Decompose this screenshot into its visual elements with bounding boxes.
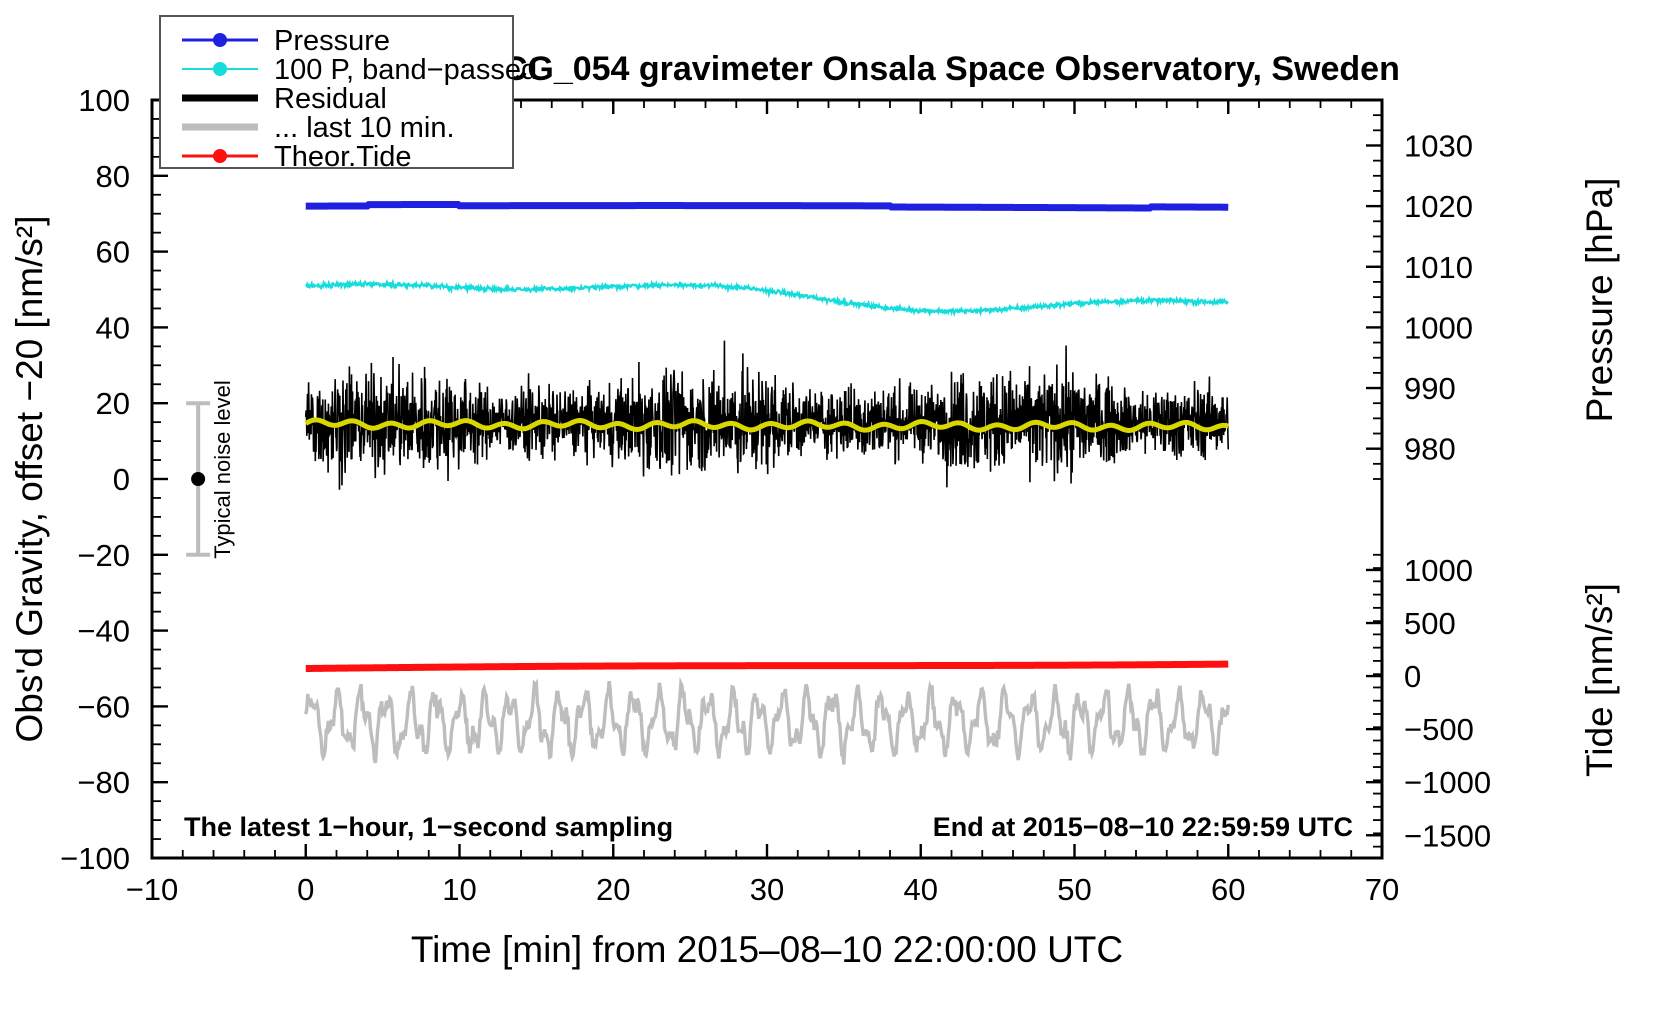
- noise-level-label: Typical noise level: [210, 380, 235, 559]
- pressure-tick-label: 1030: [1404, 128, 1473, 163]
- noise-center-dot: [191, 472, 205, 486]
- tide-tick-label: −1000: [1404, 765, 1491, 800]
- tide-tick-label: 0: [1404, 659, 1421, 694]
- y-tick-label: 40: [96, 310, 130, 345]
- legend-item-label[interactable]: Residual: [274, 83, 387, 115]
- data-traces-layer: [306, 204, 1229, 764]
- y-tick-label: −40: [77, 614, 130, 649]
- noise-level-annotation: Typical noise level: [186, 380, 235, 559]
- end-time-label: End at 2015−08−10 22:59:59 UTC: [933, 812, 1353, 842]
- y-tick-label: 0: [113, 462, 130, 497]
- sampling-note-label: The latest 1−hour, 1−second sampling: [184, 812, 673, 842]
- y-axis-title-tide: Tide [nm/s²]: [1579, 583, 1620, 777]
- y-tick-label: 20: [96, 386, 130, 421]
- x-tick-label: 40: [904, 872, 938, 907]
- tide-tick-label: −500: [1404, 712, 1474, 747]
- x-tick-label: 70: [1365, 872, 1399, 907]
- x-tick-label: 20: [596, 872, 630, 907]
- trace-bandpassed: [306, 282, 1229, 313]
- y-tick-label: −80: [77, 765, 130, 800]
- legend-item-label[interactable]: Theor.Tide: [274, 141, 412, 173]
- y-tick-label: 80: [96, 159, 130, 194]
- y-tick-label: 60: [96, 235, 130, 270]
- pressure-tick-label: 990: [1404, 371, 1456, 406]
- trace-residual: [306, 341, 1229, 490]
- x-tick-label: 30: [750, 872, 784, 907]
- pressure-tick-label: 980: [1404, 432, 1456, 467]
- tide-tick-label: 500: [1404, 606, 1456, 641]
- y-tick-label: 100: [78, 83, 130, 118]
- legend-swatch-marker: [213, 62, 227, 76]
- chart-title: SCG_054 gravimeter Onsala Space Observat…: [480, 50, 1400, 88]
- legend-item-label[interactable]: ... last 10 min.: [274, 112, 455, 144]
- x-tick-label: 10: [442, 872, 476, 907]
- x-tick-label: −10: [126, 872, 179, 907]
- tide-tick-label: 1000: [1404, 553, 1473, 588]
- chart-legend[interactable]: Pressure100 P, band−passedResidual... la…: [160, 16, 537, 173]
- gravimeter-chart: −10010203040506070100806040200−20−40−60−…: [0, 0, 1660, 1020]
- legend-item-label[interactable]: 100 P, band−passed: [274, 54, 537, 86]
- legend-item-label[interactable]: Pressure: [274, 25, 390, 57]
- y-axis-title: Obs'd Gravity, offset −20 [nm/s²]: [9, 216, 50, 743]
- y-tick-label: −20: [77, 538, 130, 573]
- chart-root: −10010203040506070100806040200−20−40−60−…: [0, 0, 1660, 1020]
- legend-swatch-marker: [213, 149, 227, 163]
- y-axis-title-pressure: Pressure [hPa]: [1579, 178, 1620, 423]
- legend-swatch-marker: [213, 33, 227, 47]
- x-tick-label: 0: [297, 872, 314, 907]
- x-tick-label: 50: [1057, 872, 1091, 907]
- y-tick-label: −100: [60, 841, 130, 876]
- x-axis-title: Time [min] from 2015–08–10 22:00:00 UTC: [411, 929, 1123, 970]
- pressure-tick-label: 1010: [1404, 250, 1473, 285]
- trace-pressure: [306, 204, 1229, 208]
- tide-tick-label: −1500: [1404, 818, 1491, 853]
- trace-last-10-min: [306, 681, 1229, 764]
- x-tick-label: 60: [1211, 872, 1245, 907]
- trace-theor-tide: [306, 664, 1229, 668]
- y-tick-label: −60: [77, 689, 130, 724]
- pressure-tick-label: 1020: [1404, 189, 1473, 224]
- pressure-tick-label: 1000: [1404, 310, 1473, 345]
